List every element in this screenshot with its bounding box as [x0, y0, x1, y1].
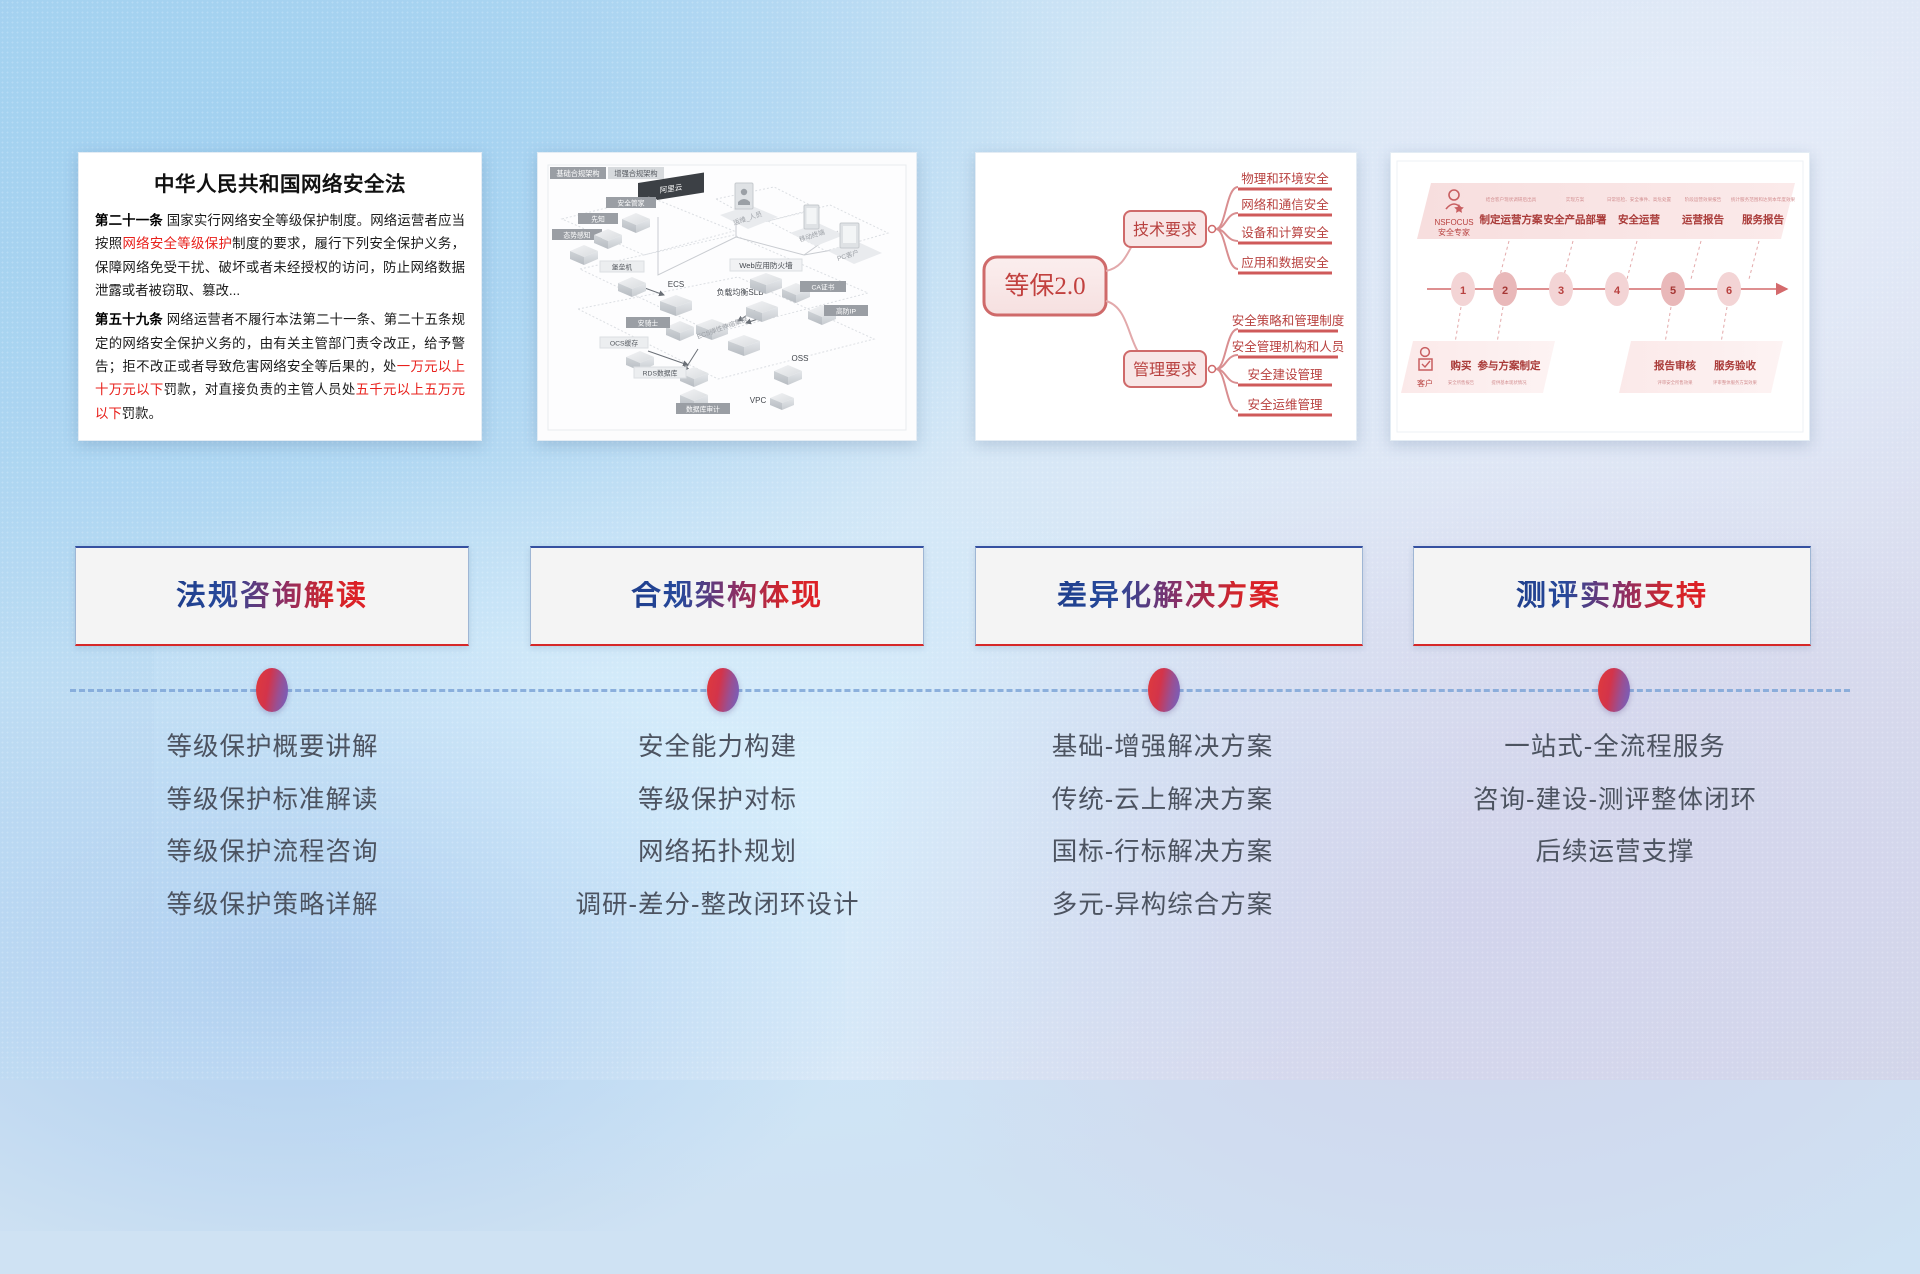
svg-text:技术要求: 技术要求 — [1133, 221, 1197, 239]
svg-text:安全专家: 安全专家 — [1438, 227, 1470, 237]
bullet-column-3: 基础-增强解决方案 传统-云上解决方案 国标-行标解决方案 多元-异构综合方案 — [950, 735, 1375, 945]
svg-text:管理要求: 管理要求 — [1133, 361, 1197, 379]
svg-text:安全运营: 安全运营 — [1618, 213, 1660, 226]
bullet-item: 等级保护流程咨询 — [60, 840, 485, 866]
title-box-3-label: 差异化解决方案 — [1057, 581, 1281, 611]
title-box-4[interactable]: 测评实施支持 — [1413, 546, 1811, 646]
svg-text:阶段运营效果报告: 阶段运营效果报告 — [1685, 196, 1722, 203]
svg-text:客户: 客户 — [1417, 378, 1433, 388]
svg-text:评审安全所售效果: 评审安全所售效果 — [1657, 379, 1693, 386]
svg-text:购买: 购买 — [1451, 359, 1473, 372]
timeline-track — [0, 660, 1920, 720]
svg-text:ECS: ECS — [668, 280, 684, 289]
nsfocus-service-timeline: NSFOCUS 安全专家 结合客户现状调研后出具 制定运营方案 实现方案 安全产… — [1391, 153, 1809, 440]
dengbao-mindmap: 等保2.0 技术要求 — [976, 153, 1356, 440]
svg-text:网络和通信安全: 网络和通信安全 — [1241, 197, 1329, 212]
svg-text:增强合规架构: 增强合规架构 — [614, 169, 657, 178]
card-law[interactable]: 中华人民共和国网络安全法 第二十一条 国家实行网络安全等级保护制度。网络运营者应… — [78, 152, 482, 441]
svg-text:日常巡检、安全事件、高危处置: 日常巡检、安全事件、高危处置 — [1607, 196, 1672, 203]
preview-cards-row: 中华人民共和国网络安全法 第二十一条 国家实行网络安全等级保护制度。网络运营者应… — [0, 152, 1920, 442]
svg-text:堡垒机: 堡垒机 — [612, 263, 633, 272]
svg-text:提供基本现状情况: 提供基本现状情况 — [1491, 379, 1527, 386]
svg-text:高防IP: 高防IP — [836, 307, 856, 316]
bullet-column-4: 一站式-全流程服务 咨询-建设-测评整体闭环 后续运营支撑 — [1395, 735, 1835, 893]
title-box-3[interactable]: 差异化解决方案 — [975, 546, 1363, 646]
bullet-item: 调研-差分-整改闭环设计 — [505, 893, 930, 919]
title-box-1-label: 法规咨询解读 — [176, 581, 368, 611]
svg-text:制定运营方案: 制定运营方案 — [1480, 213, 1543, 226]
svg-text:运营报告: 运营报告 — [1682, 213, 1724, 226]
bullet-item: 多元-异构综合方案 — [950, 893, 1375, 919]
law-title: 中华人民共和国网络安全法 — [95, 167, 465, 197]
cloud-architecture-diagram: 基础合规架构 增强合规架构 阿里云 — [538, 153, 916, 440]
slide-stage: 中华人民共和国网络安全法 第二十一条 国家实行网络安全等级保护制度。网络运营者应… — [0, 0, 1920, 1080]
nsfocus-svg: NSFOCUS 安全专家 结合客户现状调研后出具 制定运营方案 实现方案 安全产… — [1391, 153, 1809, 440]
svg-text:应用和数据安全: 应用和数据安全 — [1241, 255, 1329, 270]
svg-text:安全管家: 安全管家 — [617, 199, 644, 208]
svg-text:服务验收: 服务验收 — [1714, 359, 1756, 372]
svg-text:安全策略和管理制度: 安全策略和管理制度 — [1232, 313, 1345, 328]
bullet-item: 后续运营支撑 — [1395, 840, 1835, 866]
svg-text:VPC: VPC — [750, 396, 767, 405]
svg-text:安全管理机构和人员: 安全管理机构和人员 — [1232, 339, 1345, 354]
svg-text:安全所售报告: 安全所售报告 — [1448, 379, 1475, 386]
law-paragraph-59: 第五十九条 网络运营者不履行本法第二十一条、第二十五条规定的网络安全保护义务的，… — [95, 308, 465, 425]
svg-text:服务报告: 服务报告 — [1742, 213, 1784, 226]
svg-text:数据库审计: 数据库审计 — [686, 405, 720, 414]
card-nsfocus-timeline[interactable]: NSFOCUS 安全专家 结合客户现状调研后出具 制定运营方案 实现方案 安全产… — [1390, 152, 1810, 441]
card-architecture[interactable]: 基础合规架构 增强合规架构 阿里云 — [537, 152, 917, 441]
svg-text:Web应用防火墙: Web应用防火墙 — [739, 260, 793, 270]
law-document: 中华人民共和国网络安全法 第二十一条 国家实行网络安全等级保护制度。网络运营者应… — [79, 153, 481, 440]
svg-text:评审整体服务方案效果: 评审整体服务方案效果 — [1713, 379, 1758, 386]
timeline-marker-4[interactable] — [1598, 668, 1630, 712]
svg-text:RDS数据库: RDS数据库 — [643, 369, 678, 378]
title-box-4-label: 测评实施支持 — [1516, 581, 1708, 611]
bullet-item: 等级保护标准解读 — [60, 788, 485, 814]
svg-text:5: 5 — [1670, 285, 1676, 297]
svg-text:统计服务范围和达到本年度效果: 统计服务范围和达到本年度效果 — [1731, 196, 1796, 203]
svg-text:结合客户现状调研后出具: 结合客户现状调研后出具 — [1486, 196, 1537, 203]
svg-text:基础合规架构: 基础合规架构 — [556, 169, 599, 178]
title-box-2-label: 合规架构体现 — [631, 581, 823, 611]
bullet-item: 国标-行标解决方案 — [950, 840, 1375, 866]
bullet-column-2: 安全能力构建 等级保护对标 网络拓扑规划 调研-差分-整改闭环设计 — [505, 735, 930, 945]
bullet-item: 咨询-建设-测评整体闭环 — [1395, 788, 1835, 814]
timeline-marker-1[interactable] — [256, 668, 288, 712]
law-run: 罚款，对直接负责的主管人员处 — [164, 382, 356, 397]
law-article-number-21: 第二十一条 — [95, 213, 163, 228]
bullet-item: 等级保护对标 — [505, 788, 930, 814]
svg-text:实现方案: 实现方案 — [1566, 196, 1585, 203]
bullet-item: 等级保护概要讲解 — [60, 735, 485, 761]
svg-text:1: 1 — [1460, 285, 1466, 297]
svg-text:安全产品部署: 安全产品部署 — [1544, 213, 1607, 226]
law-paragraph-21: 第二十一条 国家实行网络安全等级保护制度。网络运营者应当按照网络安全等级保护制度… — [95, 209, 465, 302]
svg-text:2: 2 — [1502, 285, 1508, 297]
svg-text:安全建设管理: 安全建设管理 — [1247, 367, 1323, 382]
mindmap-svg: 等保2.0 技术要求 — [976, 153, 1356, 440]
architecture-svg: 基础合规架构 增强合规架构 阿里云 — [538, 153, 916, 440]
svg-text:OSS: OSS — [792, 354, 809, 363]
law-run: 罚款。 — [122, 406, 162, 421]
svg-text:CA证书: CA证书 — [811, 283, 834, 292]
title-boxes-row: 法规咨询解读 合规架构体现 差异化解决方案 测评实施支持 — [0, 546, 1920, 646]
svg-text:先知: 先知 — [591, 215, 605, 224]
bullet-columns: 等级保护概要讲解 等级保护标准解读 等级保护流程咨询 等级保护策略详解 安全能力… — [0, 735, 1920, 975]
title-box-2[interactable]: 合规架构体现 — [530, 546, 924, 646]
bullet-item: 安全能力构建 — [505, 735, 930, 761]
timeline-marker-3[interactable] — [1148, 668, 1180, 712]
svg-text:OCS缓存: OCS缓存 — [610, 339, 639, 348]
title-box-1[interactable]: 法规咨询解读 — [75, 546, 469, 646]
svg-text:安全运维管理: 安全运维管理 — [1247, 397, 1323, 412]
card-mindmap[interactable]: 等保2.0 技术要求 — [975, 152, 1357, 441]
svg-text:态势感知: 态势感知 — [563, 231, 590, 240]
timeline-marker-2[interactable] — [707, 668, 739, 712]
bullet-item: 一站式-全流程服务 — [1395, 735, 1835, 761]
bullet-item: 传统-云上解决方案 — [950, 788, 1375, 814]
svg-text:设备和计算安全: 设备和计算安全 — [1241, 225, 1329, 240]
svg-text:4: 4 — [1614, 285, 1621, 297]
bullet-item: 网络拓扑规划 — [505, 840, 930, 866]
bullet-item: 等级保护策略详解 — [60, 893, 485, 919]
svg-text:3: 3 — [1558, 285, 1564, 297]
law-run-highlight: 网络安全等级保护 — [122, 236, 232, 251]
bullet-column-1: 等级保护概要讲解 等级保护标准解读 等级保护流程咨询 等级保护策略详解 — [60, 735, 485, 945]
svg-text:NSFOCUS: NSFOCUS — [1434, 218, 1473, 227]
svg-text:6: 6 — [1726, 285, 1732, 297]
timeline-dashed-line — [70, 689, 1850, 692]
svg-text:报告审核: 报告审核 — [1654, 359, 1696, 372]
svg-text:安骑士: 安骑士 — [638, 319, 659, 328]
svg-text:参与方案制定: 参与方案制定 — [1478, 359, 1541, 372]
svg-text:物理和环境安全: 物理和环境安全 — [1241, 171, 1329, 186]
svg-text:等保2.0: 等保2.0 — [1004, 272, 1085, 300]
law-article-number-59: 第五十九条 — [95, 312, 163, 327]
bullet-item: 基础-增强解决方案 — [950, 735, 1375, 761]
